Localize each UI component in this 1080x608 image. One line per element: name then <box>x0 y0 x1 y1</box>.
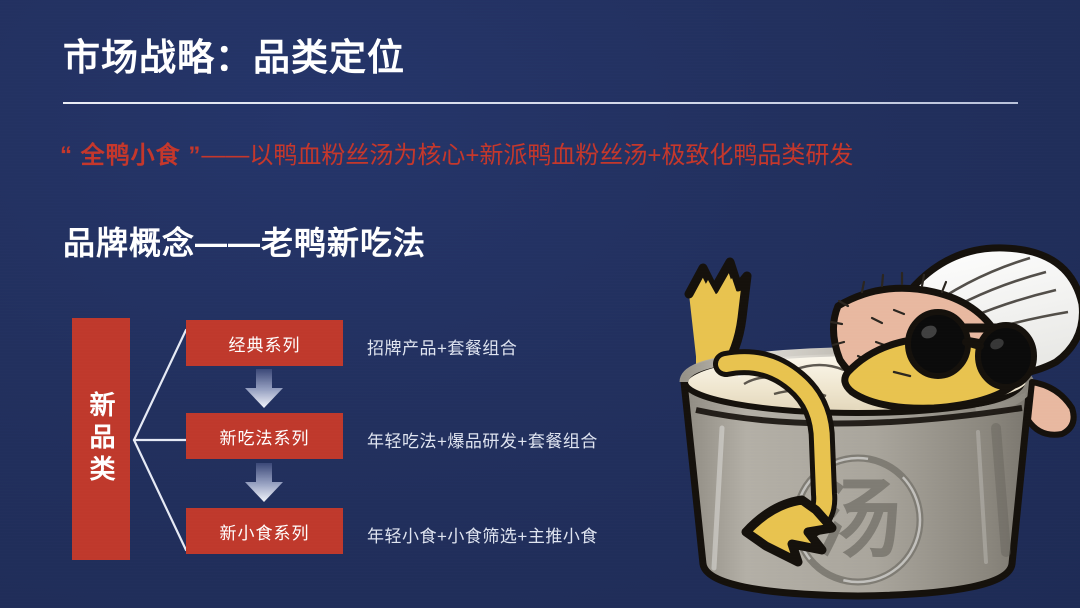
series-desc-new-snack: 年轻小食+小食筛选+主推小食 <box>367 522 598 547</box>
category-bar-label: 新品类 <box>88 391 114 487</box>
duck-in-soup-bowl-illustration: 汤 <box>626 232 1080 608</box>
down-arrow-icon-2 <box>243 463 285 503</box>
slide-canvas: 市场战略：品类定位 “ 全鸭小食 ”——以鸭血粉丝汤为核心+新派鸭血粉丝汤+极致… <box>0 0 1080 608</box>
duck-wing <box>1028 382 1074 435</box>
series-desc-classic: 招牌产品+套餐组合 <box>367 334 517 359</box>
category-bar: 新品类 <box>72 318 130 560</box>
series-box-new-style[interactable]: 新吃法系列 <box>186 413 343 459</box>
series-box-new-snack[interactable]: 新小食系列 <box>186 508 343 554</box>
fan-connector-icon <box>130 310 190 570</box>
series-desc-new-style: 年轻吃法+爆品研发+套餐组合 <box>367 427 598 452</box>
series-box-classic[interactable]: 经典系列 <box>186 320 343 366</box>
down-arrow-icon-1 <box>243 369 285 409</box>
category-diagram: 新品类 经典系列 招牌产品+套餐组合 新吃法系列 年轻 <box>0 0 660 608</box>
